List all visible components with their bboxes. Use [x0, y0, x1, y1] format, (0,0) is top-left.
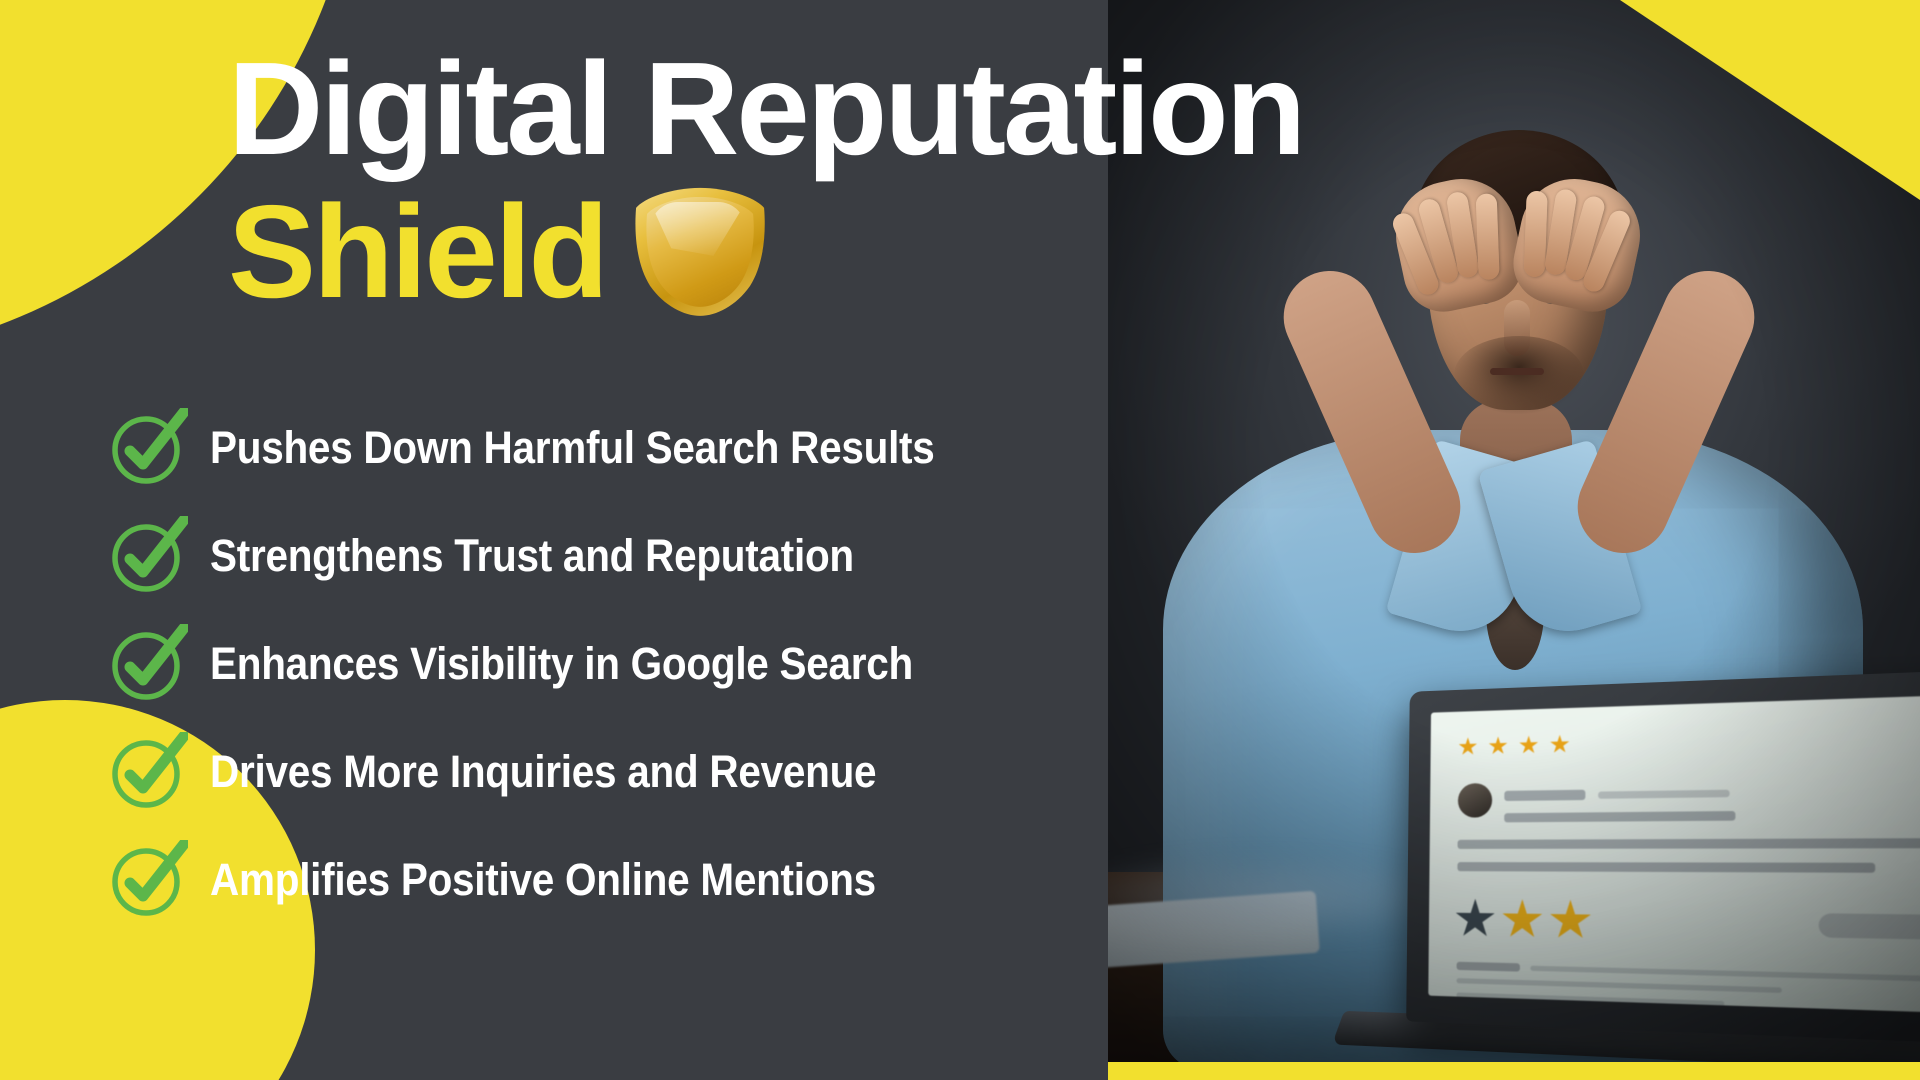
- headline-line-2: Shield: [228, 181, 1528, 324]
- benefit-label: Amplifies Positive Online Mentions: [210, 854, 876, 906]
- poster-content: Digital Reputation Shield Pushes Down Ha…: [0, 0, 1920, 1080]
- benefit-item: Strengthens Trust and Reputation: [108, 502, 1288, 610]
- benefit-item: Drives More Inquiries and Revenue: [108, 718, 1288, 826]
- check-circle-icon: [108, 840, 188, 920]
- shield-emoji-icon: [632, 186, 768, 318]
- check-circle-icon: [108, 516, 188, 596]
- benefit-label: Strengthens Trust and Reputation: [210, 530, 854, 582]
- benefits-list: Pushes Down Harmful Search Results Stren…: [108, 394, 1288, 934]
- check-circle-icon: [108, 624, 188, 704]
- poster-canvas: Digital Reputation Shield Pushes Down Ha…: [0, 0, 1920, 1080]
- benefit-label: Drives More Inquiries and Revenue: [210, 746, 876, 798]
- headline-line-2-text: Shield: [228, 181, 606, 324]
- benefit-item: Enhances Visibility in Google Search: [108, 610, 1288, 718]
- benefit-item: Pushes Down Harmful Search Results: [108, 394, 1288, 502]
- benefit-label: Pushes Down Harmful Search Results: [210, 422, 935, 474]
- benefit-label: Enhances Visibility in Google Search: [210, 638, 913, 690]
- check-circle-icon: [108, 732, 188, 812]
- page-title: Digital Reputation Shield: [228, 38, 1528, 323]
- check-circle-icon: [108, 408, 188, 488]
- benefit-item: Amplifies Positive Online Mentions: [108, 826, 1288, 934]
- headline-line-1: Digital Reputation: [228, 38, 1528, 181]
